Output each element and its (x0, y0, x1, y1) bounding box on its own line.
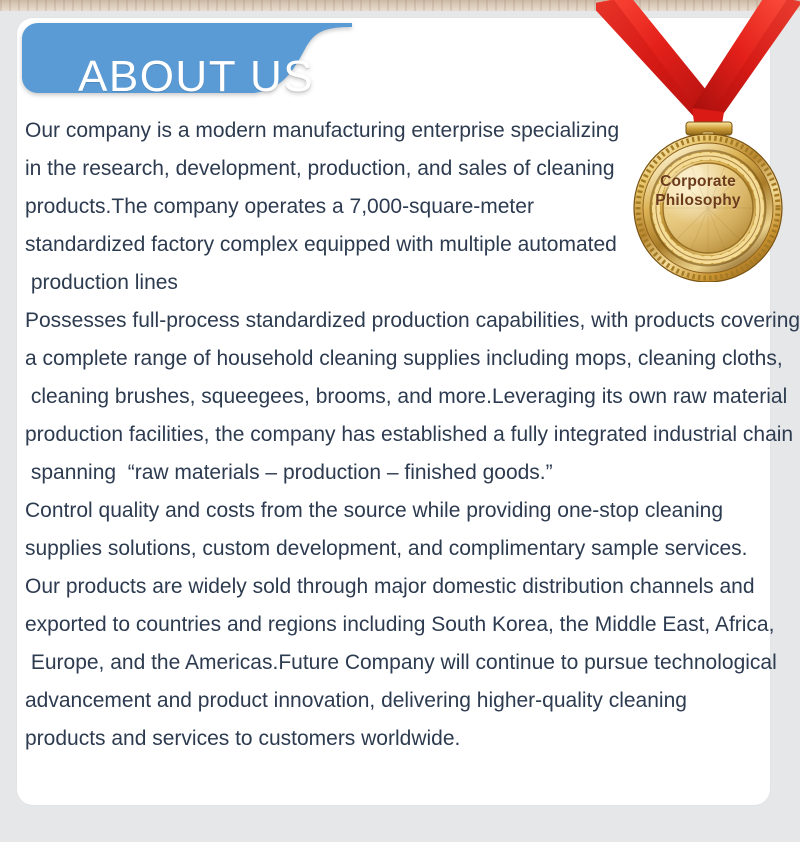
body-line: cleaning brushes, squeegees, brooms, and… (25, 378, 777, 416)
body-line: Our company is a modern manufacturing en… (25, 112, 650, 150)
body-line: Control quality and costs from the sourc… (25, 492, 777, 530)
body-line: advancement and product innovation, deli… (25, 682, 777, 720)
paragraph-services: Control quality and costs from the sourc… (25, 492, 777, 758)
body-line: production facilities, the company has e… (25, 416, 777, 454)
body-line: exported to countries and regions includ… (25, 606, 777, 644)
body-line: products and services to customers world… (25, 720, 777, 758)
paragraph-capabilities: Possesses full-process standardized prod… (25, 302, 777, 492)
paragraph-intro: Our company is a modern manufacturing en… (25, 112, 777, 302)
body-line: standardized factory complex equipped wi… (25, 226, 650, 264)
about-us-banner: ABOUT US (22, 23, 352, 101)
body-line: Europe, and the Americas.Future Company … (25, 644, 777, 682)
page-root: ABOUT US (0, 0, 800, 842)
banner-title: ABOUT US (78, 55, 314, 99)
body-line: Our products are widely sold through maj… (25, 568, 777, 606)
wood-texture-strip (0, 0, 800, 11)
body-line: Possesses full-process standardized prod… (25, 302, 777, 340)
body-line: production lines (25, 264, 650, 302)
body-line: supplies solutions, custom development, … (25, 530, 777, 568)
body-line: a complete range of household cleaning s… (25, 340, 777, 378)
body-line: spanning “raw materials – production – f… (25, 454, 777, 492)
body-line: products.The company operates a 7,000-sq… (25, 188, 650, 226)
body-line: in the research, development, production… (25, 150, 650, 188)
about-us-body: Our company is a modern manufacturing en… (25, 112, 777, 758)
